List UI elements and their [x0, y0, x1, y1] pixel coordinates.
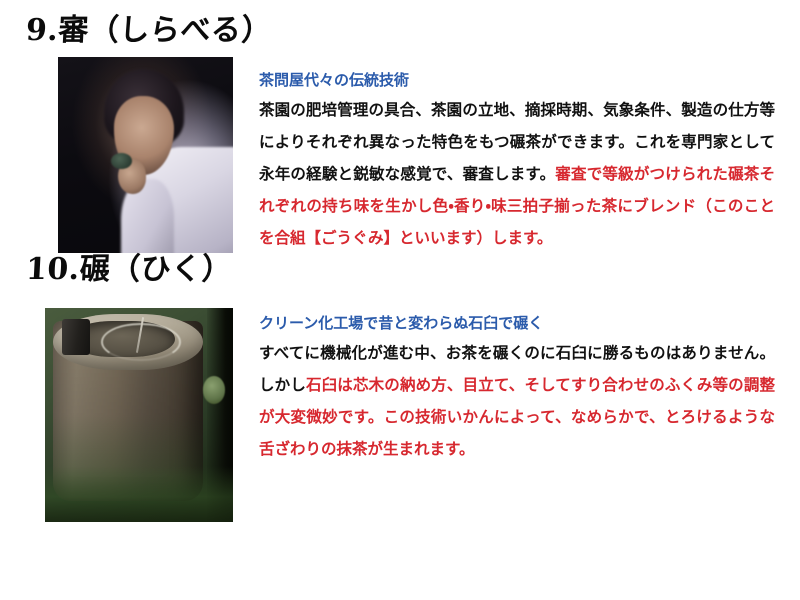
- section-heading-9: 9.審（しらべる）: [25, 16, 272, 46]
- body-text-highlight-10: 石臼は芯木の納め方、目立て、そしてすり合わせのふくみ等の調整が大変微妙です。この…: [259, 376, 775, 458]
- page-root: 9.審（しらべる） 茶問屋代々の伝統技術 茶園の肥培管理の具合、茶園の立地、摘採…: [0, 0, 800, 600]
- block-heading-10: クリーン化工場で昔と変わらぬ石臼で碾く: [259, 310, 775, 336]
- block-body-10: すべてに機械化が進む中、お茶を碾くのに石臼に勝るものはありません。しかし石臼は芯…: [259, 337, 775, 465]
- photo-stone-mill: [45, 308, 233, 522]
- block-body-9: 茶園の肥培管理の具合、茶園の立地、摘採時期、気象条件、製造の仕方等によりそれぞれ…: [259, 94, 775, 254]
- photo-tea-taster-inner: [58, 57, 233, 253]
- block-heading-9: 茶問屋代々の伝統技術: [259, 67, 775, 93]
- text-block-section-10: クリーン化工場で昔と変わらぬ石臼で碾く すべてに機械化が進む中、お茶を碾くのに石…: [259, 310, 775, 465]
- photo-tea-sample-shape: [111, 153, 132, 169]
- photo-mill-base-glow: [45, 466, 233, 522]
- photo-mill-hopper-shape: [62, 319, 90, 355]
- section-heading-10: 10.碾（ひく）: [25, 255, 233, 285]
- text-block-section-9: 茶問屋代々の伝統技術 茶園の肥培管理の具合、茶園の立地、摘採時期、気象条件、製造…: [259, 67, 775, 254]
- photo-tea-taster: [58, 57, 233, 253]
- photo-stone-mill-inner: [45, 308, 233, 522]
